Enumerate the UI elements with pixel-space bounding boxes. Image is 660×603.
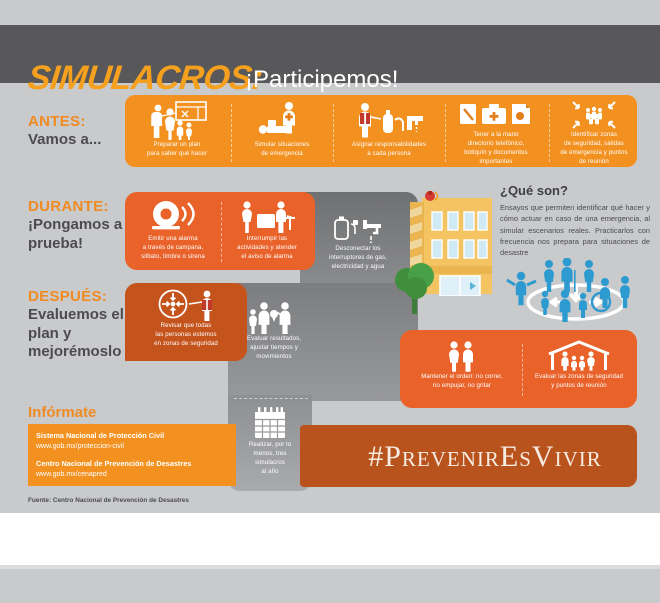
- antes-card-4-caption: Tener a la mano directorio telefónico, b…: [461, 130, 530, 167]
- durante-divider-1: [221, 202, 222, 262]
- antes-card-5: Identificar zonas de seguridad, salidas …: [552, 100, 636, 167]
- informate-entry-2-url[interactable]: www.gob.mx/cenapred: [36, 470, 228, 481]
- section-label-durante-title: DURANTE:: [28, 198, 128, 216]
- evaluate-time-icon: [243, 300, 305, 334]
- section-label-antes-sub: Vamos a...: [28, 131, 101, 149]
- section-label-durante: DURANTE: ¡Pongamos a prueba!: [28, 198, 128, 253]
- informate-entry-1-name: Sistema Nacional de Protección Civil: [36, 431, 228, 442]
- assign-roles-icon: [351, 100, 427, 140]
- antes-card-4: Tener a la mano directorio telefónico, b…: [448, 100, 544, 167]
- despues-divider-final: [522, 344, 523, 396]
- despues-card-4-caption: Evaluar las zonas de seguridad y puntos …: [532, 372, 626, 390]
- durante-card-5: Mantener el orden: no correr, no empujar…: [404, 340, 520, 390]
- antes-card-1: Preparar un plan para saber qué hacer: [128, 100, 226, 158]
- durante-card-2-caption: Interrumpir las actividades y atender el…: [234, 234, 300, 261]
- section-label-despues-title: DESPUÉS:: [28, 288, 136, 306]
- keep-order-icon: [438, 340, 486, 372]
- hashtag-text: #PrevenirEsVivir: [335, 440, 635, 474]
- informate-entry-2-name: Centro Nacional de Prevención de Desastr…: [36, 459, 228, 470]
- durante-card-1: Emitir una alarma a través de campana, s…: [128, 198, 218, 261]
- informate-title: Infórmate: [28, 404, 96, 421]
- shutoff-icon: [327, 214, 389, 244]
- antes-divider-2: [333, 104, 334, 162]
- alarm-bell-icon: [144, 198, 202, 234]
- antes-divider-1: [231, 104, 232, 162]
- antes-card-1-caption: Preparar un plan para saber qué hacer: [144, 140, 210, 158]
- check-safe-zone-icon: [153, 289, 219, 321]
- section-label-antes-title: ANTES:: [28, 113, 101, 131]
- que-son-title: ¿Qué son?: [500, 183, 650, 198]
- page-subtitle: ¡Participemos!: [245, 66, 398, 94]
- antes-card-3-caption: Asignar responsabilidades a cada persona: [349, 140, 429, 158]
- informate-entry-1: Sistema Nacional de Protección Civil www…: [28, 424, 236, 452]
- infographic-canvas: SIMULACROS: ¡Participemos! ANTES: Vamos …: [0, 0, 660, 603]
- despues-card-2: Evaluar resultados, ajustar tiempos y mo…: [231, 300, 317, 361]
- despues-card-2-caption: Evaluar resultados, ajustar tiempos y mo…: [244, 334, 304, 361]
- community-figures-illustration: [505, 258, 647, 324]
- footer-bar: SEGOB SECRETARÍA DE GOBERNACIÓN: [0, 513, 660, 565]
- que-son-body: Ensayos que permiten identificar qué hac…: [500, 202, 650, 258]
- durante-card-2: Interrumpir las actividades y atender el…: [224, 198, 310, 261]
- despues-card-3-caption: Realizar, por lo menos, tres simulacros …: [246, 440, 294, 477]
- durante-card-3-caption: Desconectar los interruptores de gas, el…: [326, 244, 390, 271]
- tree-illustration: [392, 258, 438, 316]
- meeting-point-icon: [543, 340, 615, 372]
- informate-entry-1-url[interactable]: www.gob.mx/proteccion-civil: [36, 442, 228, 453]
- section-label-durante-sub: ¡Pongamos a prueba!: [28, 216, 128, 253]
- section-label-despues-sub: Evaluemos el plan y mejorémoslo: [28, 306, 136, 361]
- antes-divider-4: [549, 104, 550, 162]
- calendar-icon: [252, 406, 288, 440]
- despues-card-3: Realizar, por lo menos, tres simulacros …: [232, 406, 308, 477]
- que-son-panel: ¿Qué son? Ensayos que permiten identific…: [500, 183, 650, 258]
- antes-card-3: Asignar responsabilidades a cada persona: [338, 100, 440, 158]
- durante-card-1-caption: Emitir una alarma a través de campana, s…: [138, 234, 208, 261]
- antes-card-2: Simular situaciones de emergencia: [236, 100, 328, 158]
- antes-card-5-caption: Identificar zonas de seguridad, salidas …: [557, 130, 630, 167]
- despues-card-1-caption: Revisar que todas las personas estemos e…: [151, 321, 221, 348]
- source-note: Fuente: Centro Nacional de Prevención de…: [28, 497, 189, 504]
- page-title: SIMULACROS:: [26, 59, 264, 98]
- durante-card-5-caption: Mantener el orden: no correr, no empujar…: [418, 372, 505, 390]
- antes-divider-3: [445, 104, 446, 162]
- antes-card-2-caption: Simular situaciones de emergencia: [252, 140, 313, 158]
- safety-zones-icon: [563, 100, 625, 130]
- phone-kit-docs-icon: [458, 100, 534, 130]
- stop-activity-icon: [235, 198, 299, 234]
- section-label-despues: DESPUÉS: Evaluemos el plan y mejorémoslo: [28, 288, 136, 361]
- family-plan-icon: [142, 100, 212, 140]
- despues-card-1: Revisar que todas las personas estemos e…: [128, 289, 244, 348]
- section-label-antes: ANTES: Vamos a...: [28, 113, 101, 150]
- informate-box: Sistema Nacional de Protección Civil www…: [28, 424, 236, 486]
- informate-entry-2: Centro Nacional de Prevención de Desastr…: [28, 452, 236, 480]
- first-aid-drill-icon: [251, 100, 313, 140]
- despues-divider-cal: [234, 398, 308, 399]
- title-bar: SIMULACROS: ¡Participemos!: [0, 25, 660, 83]
- footer-bottom-rule: [0, 565, 660, 569]
- despues-card-4: Evaluar las zonas de seguridad y puntos …: [524, 340, 634, 390]
